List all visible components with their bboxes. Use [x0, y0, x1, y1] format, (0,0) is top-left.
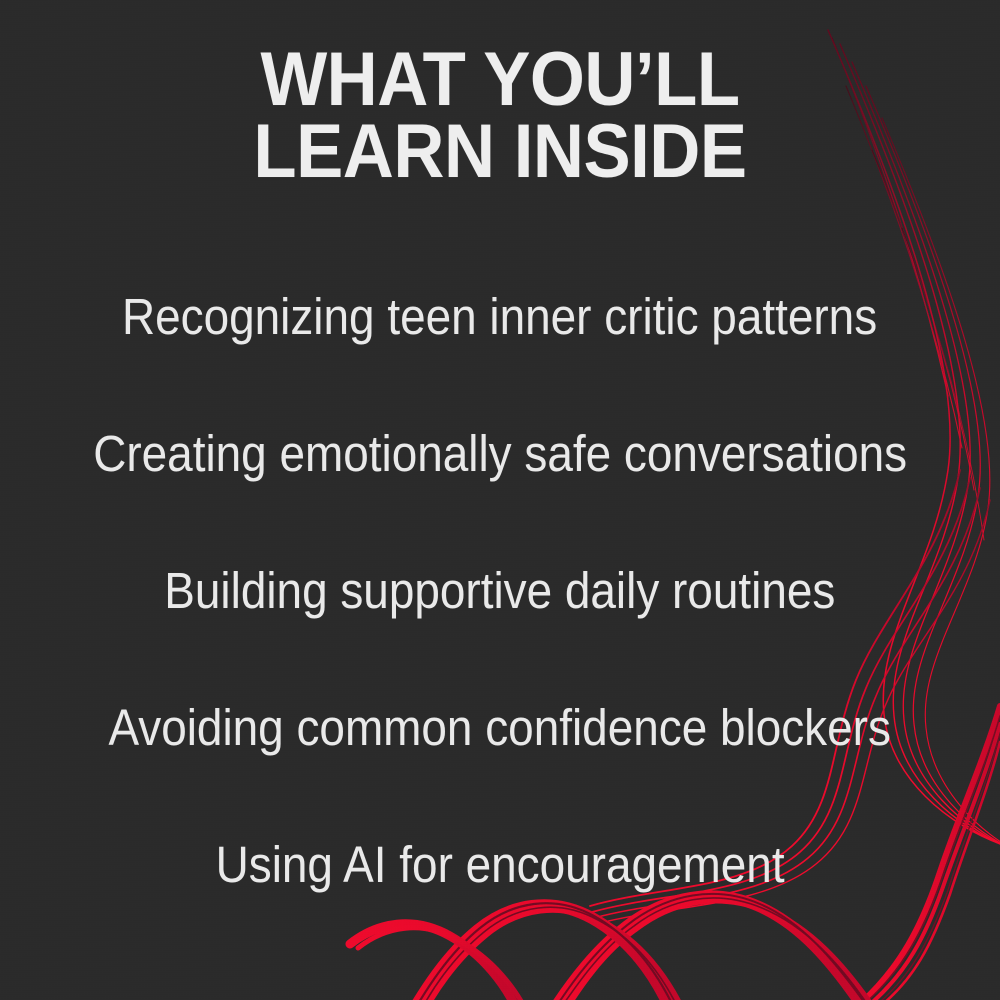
list-item-label: Avoiding common confidence blockers — [109, 701, 891, 755]
list-item-label: Building supportive daily routines — [164, 564, 835, 618]
page-title-line-1: WHAT YOU’LL — [91, 44, 909, 116]
list-item-label: Recognizing teen inner critic patterns — [122, 290, 877, 344]
list-item: Creating emotionally safe conversations — [0, 385, 1000, 522]
page-title: WHAT YOU’LL LEARN INSIDE — [35, 0, 965, 188]
list-item: Recognizing teen inner critic patterns — [0, 248, 1000, 385]
list-item: Using AI for encouragement — [0, 796, 1000, 933]
learning-points-list: Recognizing teen inner critic patterns C… — [0, 248, 1000, 933]
page-title-line-2: LEARN INSIDE — [91, 116, 909, 188]
list-item-label: Creating emotionally safe conversations — [93, 427, 907, 481]
list-item-label: Using AI for encouragement — [216, 838, 785, 892]
list-item: Avoiding common confidence blockers — [0, 659, 1000, 796]
slide-canvas: WHAT YOU’LL LEARN INSIDE Recognizing tee… — [0, 0, 1000, 1000]
list-item: Building supportive daily routines — [0, 522, 1000, 659]
content-area: WHAT YOU’LL LEARN INSIDE Recognizing tee… — [0, 0, 1000, 1000]
